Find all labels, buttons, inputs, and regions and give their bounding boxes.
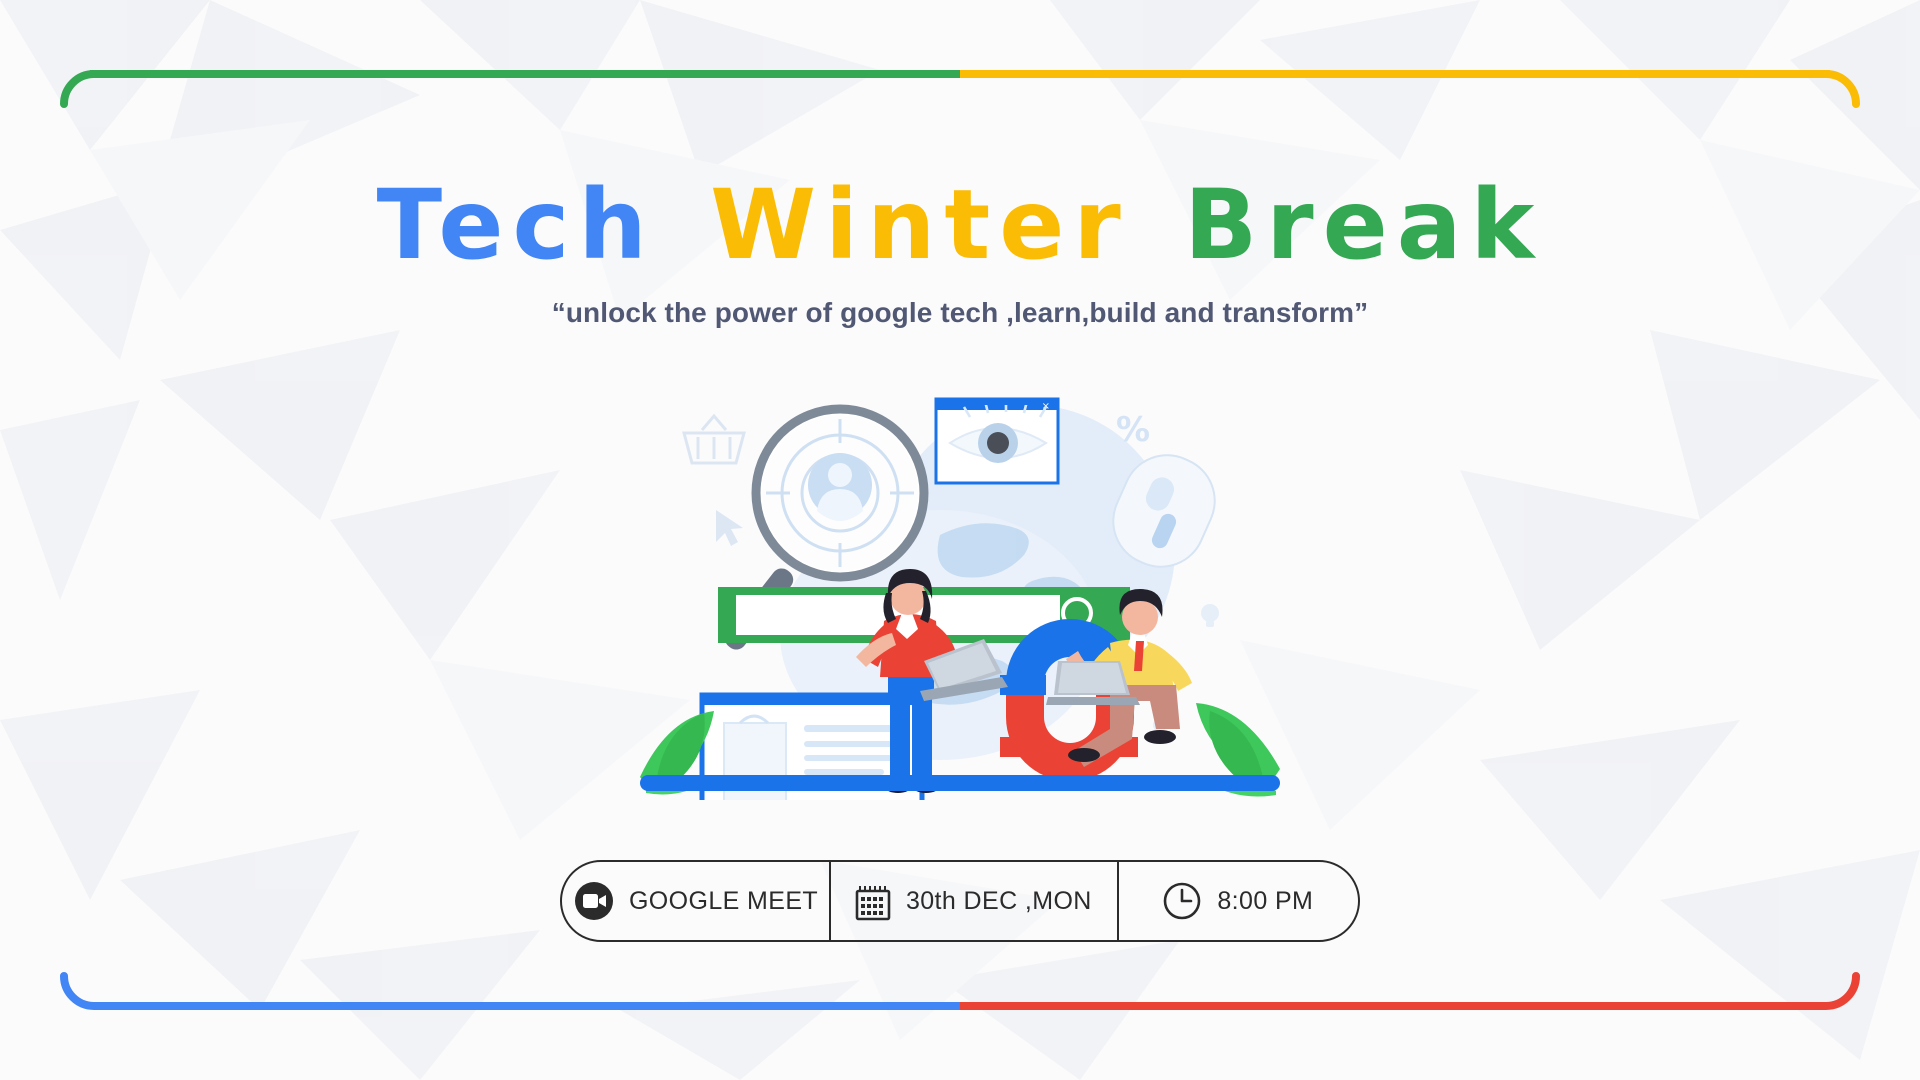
info-segment-time[interactable]: 8:00 PM <box>1117 862 1358 940</box>
time-label: 8:00 PM <box>1217 887 1313 916</box>
event-info-bar: GOOGLE MEET <box>560 860 1360 942</box>
info-segment-date[interactable]: 30th DEC ,MON <box>829 862 1117 940</box>
date-label: 30th DEC ,MON <box>906 887 1092 916</box>
cursor-icon <box>716 510 743 546</box>
svg-text:%: % <box>1116 410 1150 450</box>
title-word-break: Break <box>1178 175 1549 277</box>
shopping-basket-icon <box>684 416 744 463</box>
digital-marketing-illustration: % % <box>640 385 1280 800</box>
calendar-icon <box>854 880 892 922</box>
lightbulb-icon <box>1201 604 1219 627</box>
title-word-winter: Winter <box>704 175 1135 277</box>
platform-label: GOOGLE MEET <box>629 887 818 916</box>
page-subtitle: “unlock the power of google tech ,learn,… <box>0 297 1920 329</box>
clock-icon <box>1161 880 1203 922</box>
poster-canvas: Tech Winter Break “unlock the power of g… <box>0 0 1920 1080</box>
info-segment-platform[interactable]: GOOGLE MEET <box>562 862 829 940</box>
page-title: Tech Winter Break <box>0 175 1920 277</box>
poster-header: Tech Winter Break “unlock the power of g… <box>0 175 1920 329</box>
video-camera-icon <box>573 880 615 922</box>
eye-window: × <box>936 399 1058 483</box>
title-word-tech: Tech <box>371 175 662 277</box>
